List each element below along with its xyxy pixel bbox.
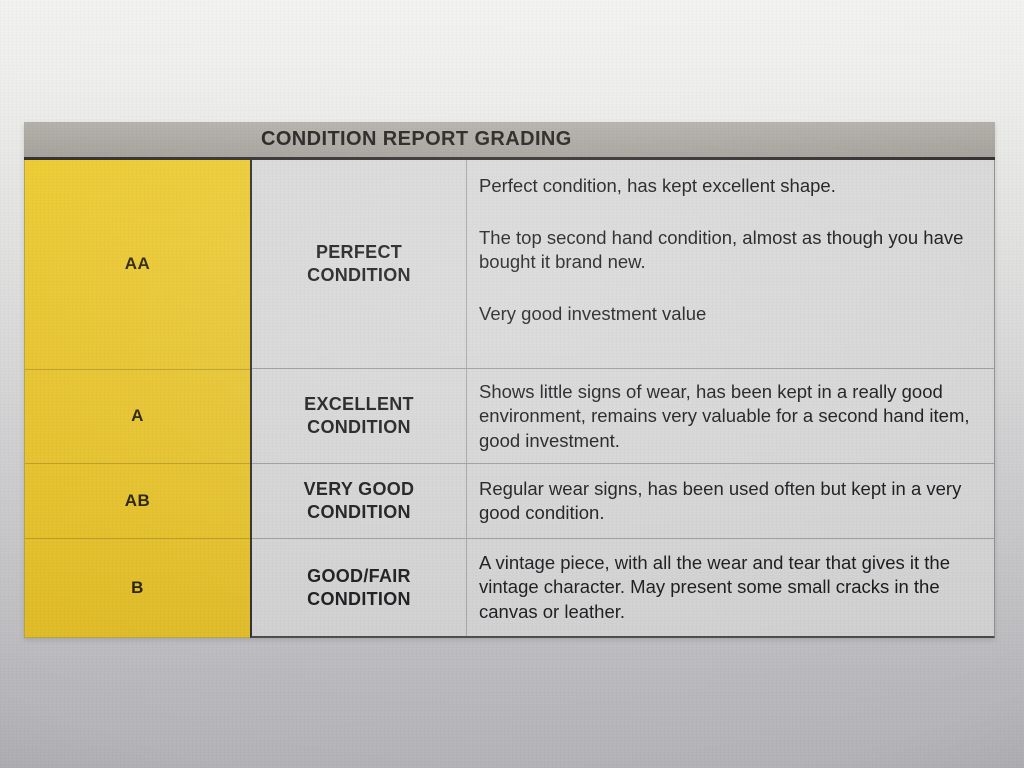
grade-letter-a: A	[131, 406, 144, 426]
grade-cell-aa: AA	[25, 160, 250, 370]
grade-cell-ab: AB	[25, 464, 250, 539]
grade-letter-aa: AA	[125, 254, 151, 274]
description-cell-ab: Regular wear signs, has been used often …	[467, 464, 994, 538]
grade-letter-ab: AB	[125, 491, 151, 511]
condition-label-text: VERY GOODCONDITION	[304, 478, 415, 524]
condition-label-line1: PERFECT	[316, 242, 402, 262]
table-row: PERFECTCONDITION Perfect condition, has …	[252, 160, 994, 369]
condition-label-line1: EXCELLENT	[304, 394, 414, 414]
description-paragraph: The top second hand condition, almost as…	[479, 226, 978, 275]
grade-cell-b: B	[25, 539, 250, 637]
description-paragraph: Regular wear signs, has been used often …	[479, 477, 978, 526]
table-title-band: CONDITION REPORT GRADING	[24, 122, 995, 160]
condition-label-text: PERFECTCONDITION	[307, 241, 411, 287]
description-paragraph: Very good investment value	[479, 302, 978, 327]
title-band-left-spacer	[24, 122, 250, 157]
condition-label-text: EXCELLENTCONDITION	[304, 393, 414, 439]
condition-label-a: EXCELLENTCONDITION	[252, 369, 467, 463]
condition-label-line2: CONDITION	[307, 502, 411, 522]
condition-label-aa: PERFECTCONDITION	[252, 160, 467, 368]
condition-label-b: GOOD/FAIRCONDITION	[252, 539, 467, 636]
condition-report-grading-table: CONDITION REPORT GRADING AA A AB B	[24, 122, 995, 638]
description-cell-a: Shows little signs of wear, has been kep…	[467, 369, 994, 463]
grade-column: AA A AB B	[24, 160, 250, 638]
condition-label-line1: VERY GOOD	[304, 479, 415, 499]
grade-letter-b: B	[131, 578, 144, 598]
description-paragraph: Perfect condition, has kept excellent sh…	[479, 174, 978, 199]
condition-label-line2: CONDITION	[307, 265, 411, 285]
condition-label-line1: GOOD/FAIR	[307, 566, 411, 586]
condition-label-text: GOOD/FAIRCONDITION	[307, 565, 411, 611]
grade-cell-a: A	[25, 370, 250, 465]
condition-label-line2: CONDITION	[307, 417, 411, 437]
description-column: PERFECTCONDITION Perfect condition, has …	[250, 160, 995, 638]
table-row: GOOD/FAIRCONDITION A vintage piece, with…	[252, 539, 994, 636]
description-paragraph: A vintage piece, with all the wear and t…	[479, 551, 978, 625]
condition-label-line2: CONDITION	[307, 589, 411, 609]
page-title: CONDITION REPORT GRADING	[250, 128, 572, 151]
table-row: EXCELLENTCONDITION Shows little signs of…	[252, 369, 994, 464]
table-grid: AA A AB B PERFECTCONDITION	[24, 160, 995, 638]
description-cell-b: A vintage piece, with all the wear and t…	[467, 539, 994, 636]
table-row: VERY GOODCONDITION Regular wear signs, h…	[252, 464, 994, 539]
condition-label-ab: VERY GOODCONDITION	[252, 464, 467, 538]
description-cell-aa: Perfect condition, has kept excellent sh…	[467, 160, 994, 368]
photographed-document: CONDITION REPORT GRADING AA A AB B	[0, 0, 1024, 768]
description-paragraph: Shows little signs of wear, has been kep…	[479, 380, 978, 454]
